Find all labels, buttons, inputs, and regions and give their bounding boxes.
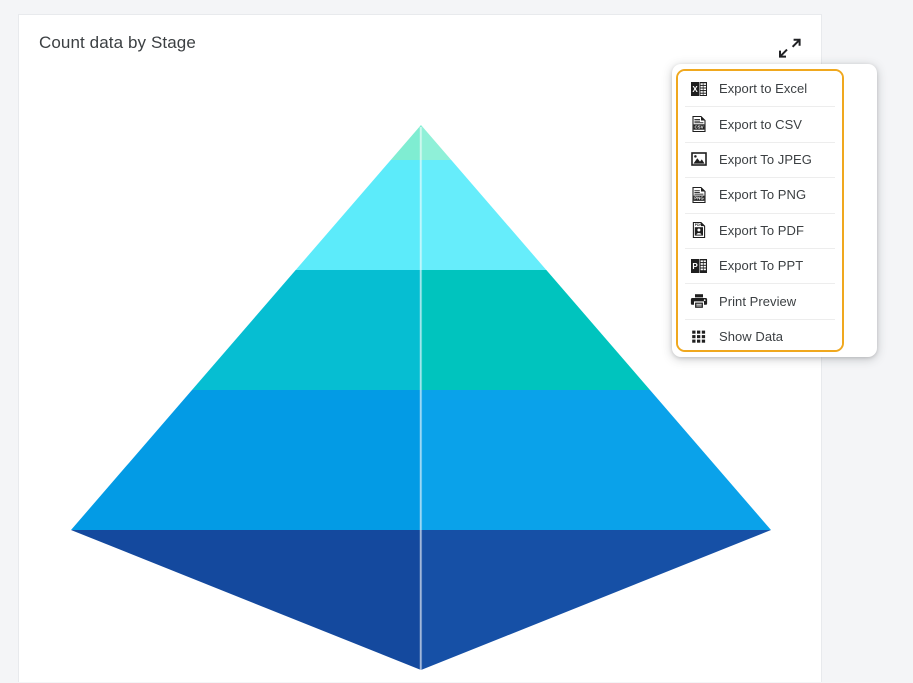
expand-diagonal-arrows-icon[interactable]: [773, 31, 807, 65]
svg-text:PDF: PDF: [695, 223, 702, 227]
menu-item-label: Show Data: [719, 329, 783, 344]
excel-file-icon: X: [689, 79, 709, 99]
app-root: Count data by Stage: [0, 0, 913, 682]
menu-item-export-to-png[interactable]: PNG Export To PNG: [678, 177, 842, 212]
menu-item-export-to-pdf[interactable]: PDF Export To PDF: [678, 213, 842, 248]
menu-item-label: Export To PNG: [719, 187, 806, 202]
export-menu[interactable]: X Export to Excel: [676, 69, 844, 352]
image-file-icon: [689, 149, 709, 169]
grid-table-icon: [689, 326, 709, 346]
svg-text:PNG: PNG: [694, 195, 704, 200]
svg-text:CSV: CSV: [694, 125, 703, 130]
menu-item-label: Export to Excel: [719, 81, 807, 96]
printer-icon: [689, 291, 709, 311]
menu-item-export-to-ppt[interactable]: P Export To PPT: [678, 248, 842, 283]
menu-item-label: Export To JPEG: [719, 152, 812, 167]
powerpoint-file-icon: P: [689, 256, 709, 276]
pyramid-center-seam: [419, 127, 422, 670]
menu-item-label: Export to CSV: [719, 117, 802, 132]
menu-item-export-to-excel[interactable]: X Export to Excel: [678, 71, 842, 106]
menu-item-show-data[interactable]: Show Data: [678, 319, 842, 352]
png-file-icon: PNG: [689, 185, 709, 205]
menu-item-label: Export To PPT: [719, 258, 803, 273]
svg-text:P: P: [692, 262, 698, 271]
menu-item-export-to-jpeg[interactable]: Export To JPEG: [678, 142, 842, 177]
svg-text:X: X: [692, 85, 698, 94]
pdf-file-icon: PDF: [689, 220, 709, 240]
csv-file-icon: CSV: [689, 114, 709, 134]
page-title: Count data by Stage: [39, 33, 196, 53]
menu-item-export-to-csv[interactable]: CSV Export to CSV: [678, 106, 842, 141]
menu-item-label: Print Preview: [719, 294, 796, 309]
menu-item-print-preview[interactable]: Print Preview: [678, 283, 842, 318]
menu-item-label: Export To PDF: [719, 223, 804, 238]
pyramid-band-group: [71, 125, 771, 670]
